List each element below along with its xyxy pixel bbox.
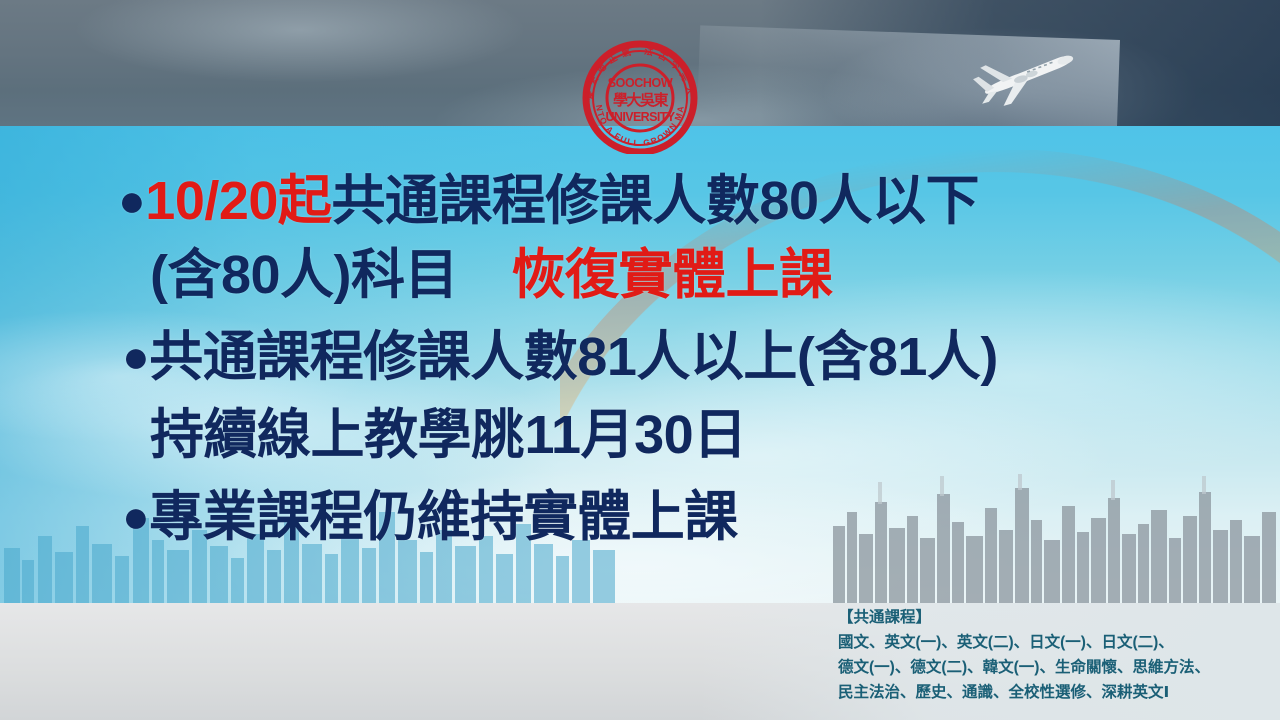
bullet-2-line-1: ●共通課程修課人數81人以上(含81人) bbox=[122, 330, 998, 384]
footnote-heading: 【共通課程】 bbox=[838, 605, 1274, 630]
common-courses-footnote: 【共通課程】 國文、英文(一)、英文(二)、日文(一)、日文(二)、 德文(一)… bbox=[838, 605, 1274, 705]
bullet-2-line-1-text: 共通課程修課人數81人以上(含81人) bbox=[149, 327, 998, 387]
bullet-1-action-emphasis: 恢復實體上課 bbox=[512, 245, 833, 305]
svg-text:學大吳東: 學大吳東 bbox=[613, 91, 669, 109]
bullet-2-line-2: 持續線上教學脁11月30日 bbox=[150, 408, 747, 462]
footnote-line-3: 民主法治、歷史、通識、全校性選修、深耕英文Ⅰ bbox=[838, 680, 1274, 705]
bullet-1-line-2: (含80人)科目 恢復實體上課 bbox=[150, 248, 833, 302]
footnote-line-1: 國文、英文(一)、英文(二)、日文(一)、日文(二)、 bbox=[838, 630, 1274, 655]
bullet-1-date-emphasis: 10/20起 bbox=[145, 171, 331, 231]
svg-text:UNIVERSITY: UNIVERSITY bbox=[605, 110, 675, 124]
bullet-1-line-1: ●10/20起共通課程修課人數80人以下 bbox=[118, 174, 979, 228]
bullet-3-text: 專業課程仍維持實體上課 bbox=[149, 487, 738, 547]
bullet-marker-3: ● bbox=[122, 490, 149, 542]
bullet-2-line-2-text: 持續線上教學脁11月30日 bbox=[150, 405, 747, 465]
bullet-1-line-2-text: (含80人)科目 bbox=[150, 245, 512, 305]
bullet-3-line-1: ●專業課程仍維持實體上課 bbox=[122, 490, 738, 544]
soochow-university-logo: 養天地正氣 法古今完人 UNTO A FULL GROWN MAN SOOCHO… bbox=[572, 36, 708, 154]
svg-text:SOOCHOW: SOOCHOW bbox=[608, 76, 673, 90]
bullet-marker-1: ● bbox=[118, 174, 145, 226]
bullet-marker-2: ● bbox=[122, 330, 149, 382]
cityscape-right bbox=[830, 472, 1280, 604]
presentation-slide: 養天地正氣 法古今完人 UNTO A FULL GROWN MAN SOOCHO… bbox=[0, 0, 1280, 720]
bullet-1-line-1-text: 共通課程修課人數80人以下 bbox=[331, 171, 979, 231]
footnote-line-2: 德文(一)、德文(二)、韓文(一)、生命關懷、思維方法、 bbox=[838, 655, 1274, 680]
airplane-icon bbox=[968, 36, 1088, 114]
